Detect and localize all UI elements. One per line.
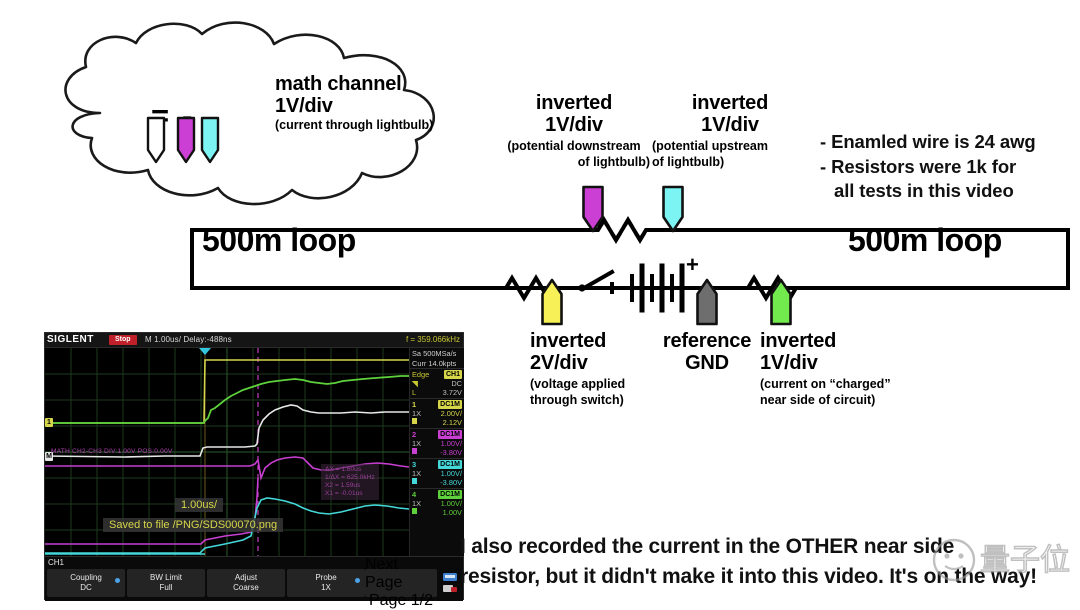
ch1-probe: 1X [412,409,421,418]
oscilloscope-screenshot: SIGLENT Stop M 1.00us/ Delay:-488ns f = … [44,332,464,600]
loop-label-right: 500m loop [848,222,1002,259]
cursor-x2: X2 = 1.59us [325,482,375,490]
ch2-scale: 1.00V/ [441,439,462,448]
scope-side-panel: Sa 500MSa/s Curr 14.0kpts Edge CH1 ◥ DC … [409,348,464,556]
channel-4-panel[interactable]: 4 DC1M 1X 1.00V/ 1.00V [410,488,464,518]
ch2-number: 2 [412,430,416,439]
softkey-probe-title: Probe [315,573,336,583]
cursor-inv-dx: 1/ΔX = 625.0kHz [325,474,375,482]
scope-softkey-bar: CH1 Coupling DC BW Limit Full Adjust Coa… [45,556,463,601]
channel-3-panel[interactable]: 3 DC1M 1X 1.00V/ -3.80V [410,458,464,488]
label-gray-line1: reference [648,330,766,352]
probe-arrow-cyan [660,185,686,238]
ch2-offset: -3.80V [440,448,462,457]
osd-saved-file: Saved to file /PNG/SDS00070.png [103,518,283,532]
trigger-level-value: 3.72V [443,388,462,397]
run-state-badge[interactable]: Stop [109,335,137,345]
softkey-bw-title: BW Limit [150,573,182,583]
trigger-panel[interactable]: Edge CH1 ◥ DC L 3.72V [410,368,464,398]
label-green-line2: 1V/div [760,352,930,374]
ch1-coupling: DC1M [438,400,462,409]
trigger-position-marker[interactable] [199,348,211,355]
softkey-coupling[interactable]: Coupling DC [47,569,125,597]
slide-root: = - math channel 1V/div (current through… [0,0,1080,606]
softkey-bw-value: Full [160,583,173,593]
usb-storage-icon[interactable] [440,571,460,595]
active-channel-label: CH1 [48,558,64,567]
ch2-color-swatch [412,448,417,454]
label-cyan-sub2: of lightbulb) [652,155,808,169]
ch4-scale: 1.00V/ [441,499,462,508]
label-green-line1: inverted [760,330,930,352]
math-equation: = - [145,100,199,131]
trigger-coupling: DC [451,379,462,388]
ch1-offset: 2.12V [443,418,462,427]
ch3-number: 3 [412,460,416,469]
cursor-x1: X1 = -0.01us [325,490,375,498]
ch3-coupling: DC1M [438,460,462,469]
label-cyan-line2: 1V/div [652,114,808,136]
label-magenta-line1: inverted [498,92,650,114]
label-gray-probe: reference GND [648,330,766,375]
scope-status-bar: SIGLENT Stop M 1.00us/ Delay:-488ns f = … [45,333,463,348]
probe-arrow-green [768,278,794,331]
label-magenta-sub1: (potential downstream [498,139,650,153]
rising-edge-icon: ◥ [412,379,418,388]
timebase-readout: M 1.00us/ Delay:-488ns [145,335,232,344]
ch4-offset: 1.00V [443,508,462,517]
label-yellow-sub2: through switch) [530,393,680,407]
label-magenta-line2: 1V/div [498,114,650,136]
ch4-number: 4 [412,490,416,499]
watermark-text: 量子位 [980,543,1070,578]
label-green-probe: inverted 1V/div (current on “charged” ne… [760,330,930,407]
loop-label-left: 500m loop [202,222,356,259]
ch3-offset: -3.80V [440,478,462,487]
trigger-level-label: L [412,388,416,397]
next-page-value: Page 1/2 [369,592,433,610]
ch3-probe: 1X [412,469,421,478]
next-page-title: Next Page [365,556,437,592]
label-magenta-probe: inverted 1V/div (potential downstream of… [498,92,650,169]
frequency-readout: f = 359.066kHz [406,335,460,344]
softkey-coupling-value: DC [80,583,92,593]
probe-arrow-gray [694,278,720,331]
osd-timebase: 1.00us/ [175,498,223,512]
ch2-coupling: DC1M [438,430,462,439]
scope-body: 1 M MATH CH2-CH3 DIV:1.00V POS:0.00V ΔX … [45,348,463,556]
channel-1-panel[interactable]: 1 DC1M 1X 2.00V/ 2.12V [410,398,464,428]
ch3-color-swatch [412,478,417,484]
softkey-coupling-title: Coupling [70,573,102,583]
math-channel-subtitle: (current through lightbulb) [275,119,465,133]
sample-rate-readout: Sa 500MSa/s [410,348,464,358]
ch4-color-swatch [412,508,417,514]
trigger-type: Edge [412,370,429,379]
softkey-adjust[interactable]: Adjust Coarse [207,569,285,597]
ch3-scale: 1.00V/ [441,469,462,478]
math-channel-callout: = - math channel 1V/div (current through… [40,18,460,208]
label-green-sub1: (current on “charged” [760,377,930,391]
waveform-grid[interactable]: 1 M MATH CH2-CH3 DIV:1.00V POS:0.00V ΔX … [45,348,409,556]
circuit-diagram: + 500m loop 500m loop [180,200,1080,340]
label-yellow-sub1: (voltage applied [530,377,680,391]
probe-knob-dot-icon [355,578,360,583]
softkey-adjust-title: Adjust [235,573,257,583]
math-channel-title-line2: 1V/div [275,95,465,117]
math-overlay-text: MATH CH2-CH3 DIV:1.00V POS:0.00V [51,448,172,455]
adjust-knob-dot-icon [115,578,120,583]
label-gray-line2: GND [648,352,766,374]
softkey-group: Coupling DC BW Limit Full Adjust Coarse … [47,569,365,597]
ch2-probe: 1X [412,439,421,448]
watermark-logo-icon: 量子位 [928,534,1076,592]
ch1-color-swatch [412,418,417,424]
softkey-bw-limit[interactable]: BW Limit Full [127,569,205,597]
label-cyan-sub1: (potential upstream [652,139,808,153]
trigger-source: CH1 [444,370,462,379]
cursor-measurement-box: ΔX = 1.60us 1/ΔX = 625.0kHz X2 = 1.59us … [321,464,379,500]
softkey-adjust-value: Coarse [233,583,259,593]
ch1-ground-indicator[interactable]: 1 [45,418,53,427]
qbitai-watermark: 量子位 [928,534,1076,592]
softkey-next-page[interactable]: Next Page Page 1/2 [365,569,437,597]
softkey-probe[interactable]: Probe 1X [287,569,365,597]
label-cyan-line1: inverted [652,92,808,114]
note-line-1: - Enamled wire is 24 awg [820,130,1078,155]
math-channel-text: math channel 1V/div (current through lig… [275,73,465,133]
label-green-sub2: near side of circuit) [760,393,930,407]
math-channel-title-line1: math channel [275,73,465,95]
cursor-dx: ΔX = 1.60us [325,466,375,474]
ch1-number: 1 [412,400,416,409]
probe-arrow-yellow [539,278,565,331]
channel-2-panel[interactable]: 2 DC1M 1X 1.00V/ -3.80V [410,428,464,458]
notes-block: - Enamled wire is 24 awg - Resistors wer… [820,130,1078,204]
battery-plus-sign: + [686,252,699,277]
softkey-probe-value: 1X [321,583,331,593]
probe-arrow-magenta [580,185,606,238]
label-cyan-probe: inverted 1V/div (potential upstream of l… [652,92,808,169]
ch4-coupling: DC1M [438,490,462,499]
circuit-svg: + [180,200,1080,340]
note-line-2: - Resistors were 1k for [820,155,1078,180]
memory-depth-readout: Curr 14.0kpts [410,358,464,368]
ch4-probe: 1X [412,499,421,508]
siglent-logo: SIGLENT [47,334,94,345]
ch1-scale: 2.00V/ [441,409,462,418]
label-magenta-sub2: of lightbulb) [498,155,650,169]
